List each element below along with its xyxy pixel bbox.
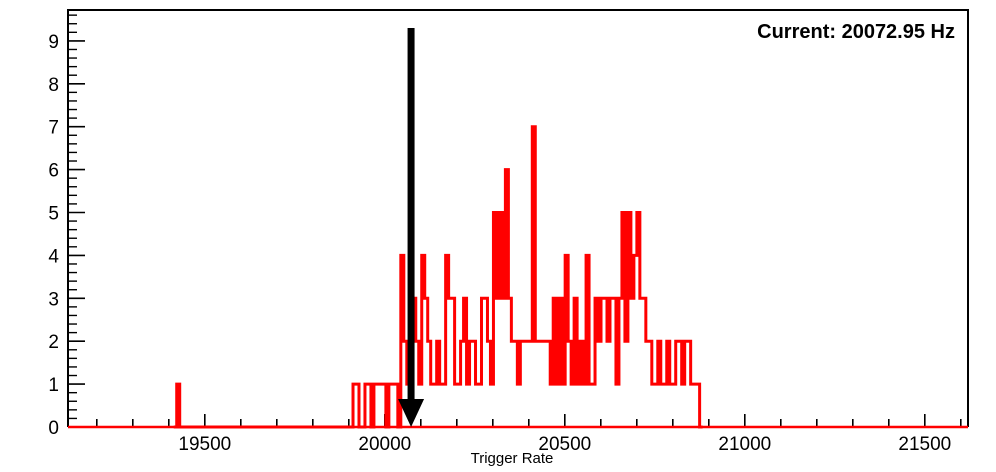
y-tick-label: 8 [48,75,59,96]
y-tick-label: 5 [48,203,59,224]
y-tick-label: 3 [48,289,59,310]
y-tick-label: 6 [48,161,59,182]
x-tick-label: 21500 [898,434,951,455]
histogram-canvas: 0123456789 1950020000205002100021500 Tri… [0,0,996,472]
x-tick-label: 20000 [358,434,411,455]
histogram-series [68,127,968,427]
y-tick-label: 4 [48,246,59,267]
y-tick-label: 9 [48,32,59,53]
x-axis-title: Trigger Rate [471,450,554,467]
histogram-outline [174,127,703,427]
x-axis: 1950020000205002100021500 [68,414,968,455]
y-tick-label: 0 [48,418,59,439]
trigger-rate-histogram[interactable]: 0123456789 1950020000205002100021500 Tri… [0,0,996,472]
y-tick-label: 7 [48,118,59,139]
y-tick-label: 2 [48,332,59,353]
x-tick-label: 21000 [718,434,771,455]
current-rate-readout: Current: 20072.95 Hz [757,21,955,43]
y-tick-label: 1 [48,375,59,396]
x-tick-label: 19500 [178,434,231,455]
y-axis: 0123456789 [48,15,85,439]
